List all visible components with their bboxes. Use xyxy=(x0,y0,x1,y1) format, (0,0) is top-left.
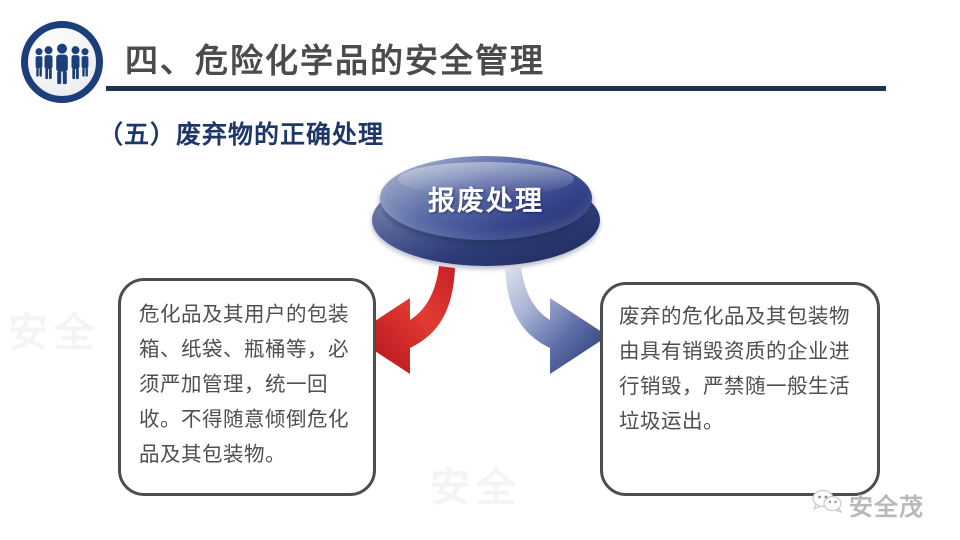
center-node-disposal: 报废处理 xyxy=(372,156,600,268)
waste-destruction-box: 废弃的危化品及其包装物由具有销毁资质的企业进行销毁，严禁随一般生活垃圾运出。 xyxy=(600,282,880,496)
waste-packaging-text: 危化品及其用户的包装箱、纸袋、瓶桶等，必须严加管理，统一回收。不得随意倾倒危化品… xyxy=(121,281,373,472)
slide-header: 四、危险化学品的安全管理 xyxy=(0,0,960,105)
page-title: 四、危险化学品的安全管理 xyxy=(125,34,545,82)
waste-packaging-box: 危化品及其用户的包装箱、纸袋、瓶桶等，必须严加管理，统一回收。不得随意倾倒危化品… xyxy=(118,278,376,496)
people-group-icon xyxy=(21,21,103,103)
section-subtitle: （五）废弃物的正确处理 xyxy=(98,115,384,151)
watermark: 安全茂 xyxy=(812,487,924,522)
background-watermark: 安全 xyxy=(8,300,100,358)
center-node-label: 报废处理 xyxy=(380,156,592,240)
arrow-to-right-box xyxy=(496,262,616,387)
waste-destruction-text: 废弃的危化品及其包装物由具有销毁资质的企业进行销毁，严禁随一般生活垃圾运出。 xyxy=(603,285,877,439)
wechat-icon xyxy=(812,489,842,520)
watermark-text: 安全茂 xyxy=(849,487,924,522)
background-watermark: 安全 xyxy=(430,455,522,513)
header-divider xyxy=(106,86,886,91)
